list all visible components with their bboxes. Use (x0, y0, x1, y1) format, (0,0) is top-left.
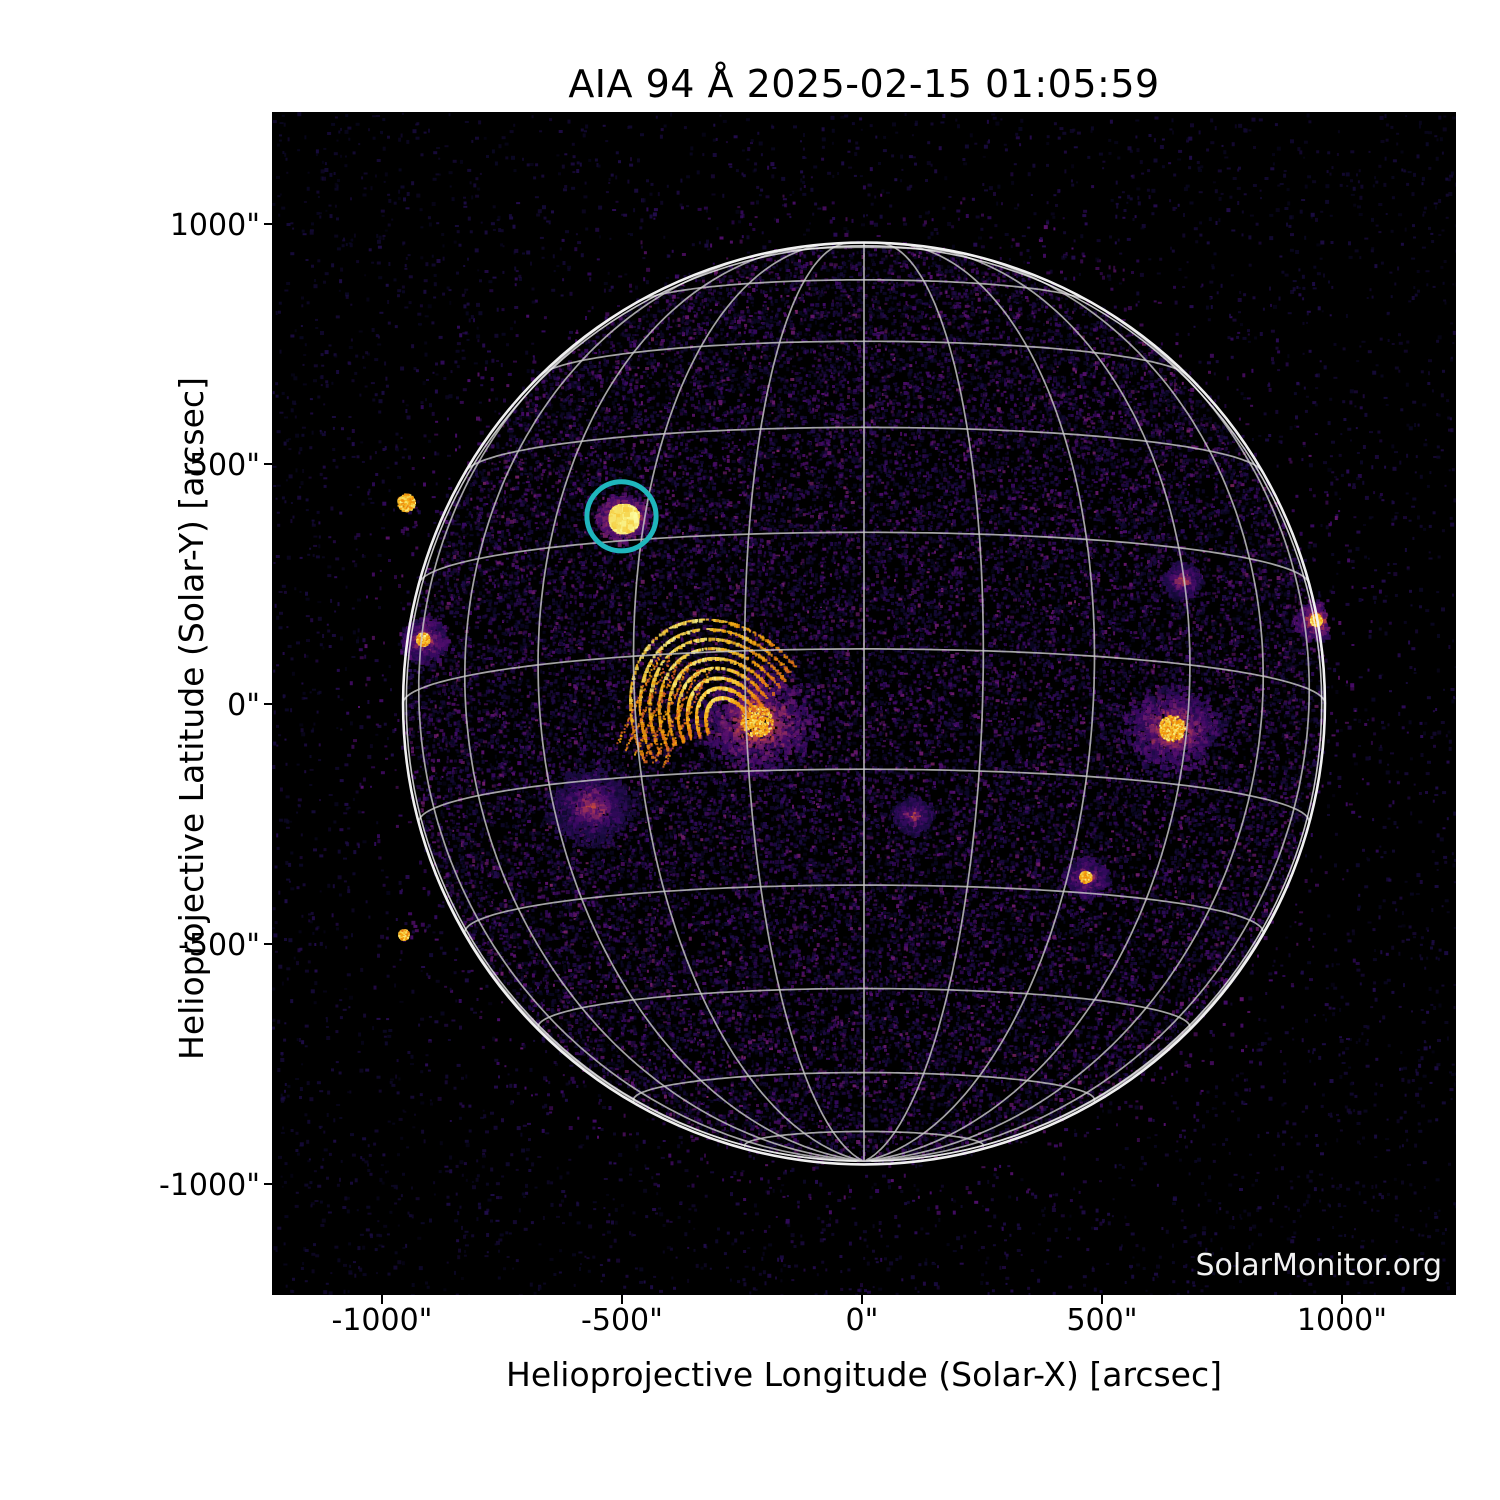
page-title: AIA 94 Å 2025-02-15 01:05:59 (272, 62, 1456, 106)
watermark: SolarMonitor.org (1196, 1248, 1442, 1283)
ytick-mark (264, 223, 273, 225)
ytick-label: -1000" (50, 1168, 260, 1203)
xtick-mark (1341, 1295, 1343, 1304)
ytick-label: 500" (50, 448, 260, 483)
sun-rendering (272, 112, 1456, 1295)
xtick-label: 0" (787, 1303, 937, 1338)
ytick-label: -500" (50, 928, 260, 963)
ytick-label: 0" (50, 688, 260, 723)
solar-image-canvas[interactable]: SolarMonitor.org (272, 112, 1456, 1295)
ytick-mark (264, 943, 273, 945)
ytick-mark (264, 1183, 273, 1185)
xtick-mark (1101, 1295, 1103, 1304)
xtick-mark (861, 1295, 863, 1304)
xtick-mark (381, 1295, 383, 1304)
y-axis-label: Helioprojective Latitude (Solar-Y) [arcs… (172, 377, 211, 1060)
ytick-label: 1000" (50, 208, 260, 243)
ytick-mark (264, 703, 273, 705)
xtick-label: 1000" (1267, 1303, 1417, 1338)
solar-image-figure: AIA 94 Å 2025-02-15 01:05:59 SolarMonito… (0, 0, 1500, 1500)
xtick-label: -1000" (307, 1303, 457, 1338)
xtick-label: -500" (547, 1303, 697, 1338)
x-axis-label: Helioprojective Longitude (Solar-X) [arc… (272, 1355, 1456, 1394)
ytick-mark (264, 463, 273, 465)
xtick-mark (621, 1295, 623, 1304)
xtick-label: 500" (1027, 1303, 1177, 1338)
